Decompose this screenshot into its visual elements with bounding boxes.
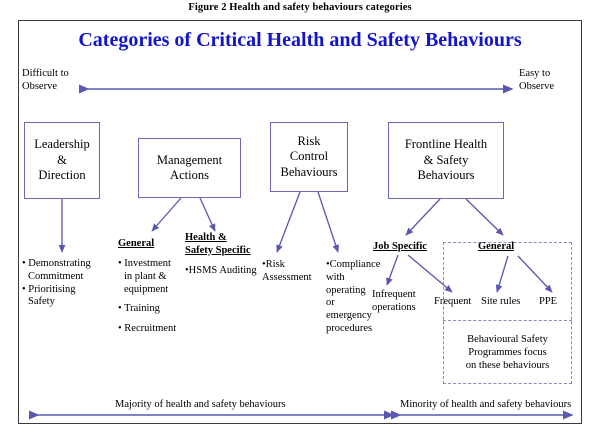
list-leadership-items: • Demonstrating Commitment • Prioritisin… — [22, 258, 114, 309]
list-item: •Risk — [262, 259, 322, 272]
list-management-general-items: • Investment in plant & equipment • Trai… — [118, 258, 184, 336]
bottom-axis-left-label: Majority of health and safety behaviours — [115, 399, 286, 410]
list-management-hs-items: •HSMS Auditing — [185, 265, 273, 278]
list-item: Commitment — [22, 271, 114, 284]
list-item: • Investment — [118, 258, 184, 271]
list-item: operations — [372, 302, 430, 315]
node-management-label: Management Actions — [157, 153, 222, 184]
list-job-specific-items: Infrequent operations — [372, 289, 430, 315]
figure-root: Figure 2 Health and safety behaviours ca… — [0, 0, 600, 434]
node-risk-label: Risk Control Behaviours — [281, 134, 338, 181]
node-leadership-label: Leadership & Direction — [34, 137, 90, 184]
list-item: Assessment — [262, 272, 322, 285]
list-item: Infrequent — [372, 289, 430, 302]
list-item: Safety — [22, 296, 114, 309]
top-axis-right-line2: Observe — [519, 81, 554, 92]
list-item: • Training — [118, 303, 184, 316]
list-item: • Prioritising — [22, 284, 114, 297]
node-frontline-label: Frontline Health & Safety Behaviours — [405, 137, 487, 184]
heading-job-specific: Job Specific — [373, 241, 427, 254]
bottom-axis-right-label: Minority of health and safety behaviours — [400, 399, 571, 410]
heading-management-hs-specific: Health & Safety Specific — [185, 232, 271, 257]
list-item: •HSMS Auditing — [185, 265, 273, 278]
list-item: • Demonstrating — [22, 258, 114, 271]
node-risk-control-behaviours[interactable]: Risk Control Behaviours — [270, 122, 348, 192]
top-axis-left-line2: Observe — [22, 81, 57, 92]
list-item: procedures — [326, 323, 388, 336]
list-item: with — [326, 272, 388, 285]
list-risk-assessment-items: •Risk Assessment — [262, 259, 322, 285]
leaf-frequent: Frequent — [434, 296, 471, 309]
figure-caption: Figure 2 Health and safety behaviours ca… — [0, 2, 600, 13]
list-item: equipment — [118, 284, 184, 297]
leaf-ppe: PPE — [539, 296, 557, 309]
list-item: in plant & — [118, 271, 184, 284]
top-axis-right-line1: Easy to — [519, 68, 550, 79]
top-axis-left-label: Difficult to Observe — [22, 68, 69, 93]
behavioural-safety-note: Behavioural Safety Programmes focus on t… — [443, 333, 572, 372]
node-management-actions[interactable]: Management Actions — [138, 138, 241, 198]
leaf-site-rules: Site rules — [481, 296, 520, 309]
top-axis-right-label: Easy to Observe — [519, 68, 554, 93]
group-box-divider — [443, 320, 572, 321]
heading-frontline-general: General — [478, 241, 514, 254]
diagram-title: Categories of Critical Health and Safety… — [18, 29, 582, 52]
node-leadership-direction[interactable]: Leadership & Direction — [24, 122, 100, 199]
list-item: • Recruitment — [118, 323, 184, 336]
top-axis-left-line1: Difficult to — [22, 68, 69, 79]
list-item: •Compliance — [326, 259, 388, 272]
heading-line1: Health & — [185, 232, 227, 243]
heading-line2: Safety Specific — [185, 245, 251, 256]
node-frontline-health-safety-behaviours[interactable]: Frontline Health & Safety Behaviours — [388, 122, 504, 199]
heading-management-general: General — [118, 238, 154, 251]
